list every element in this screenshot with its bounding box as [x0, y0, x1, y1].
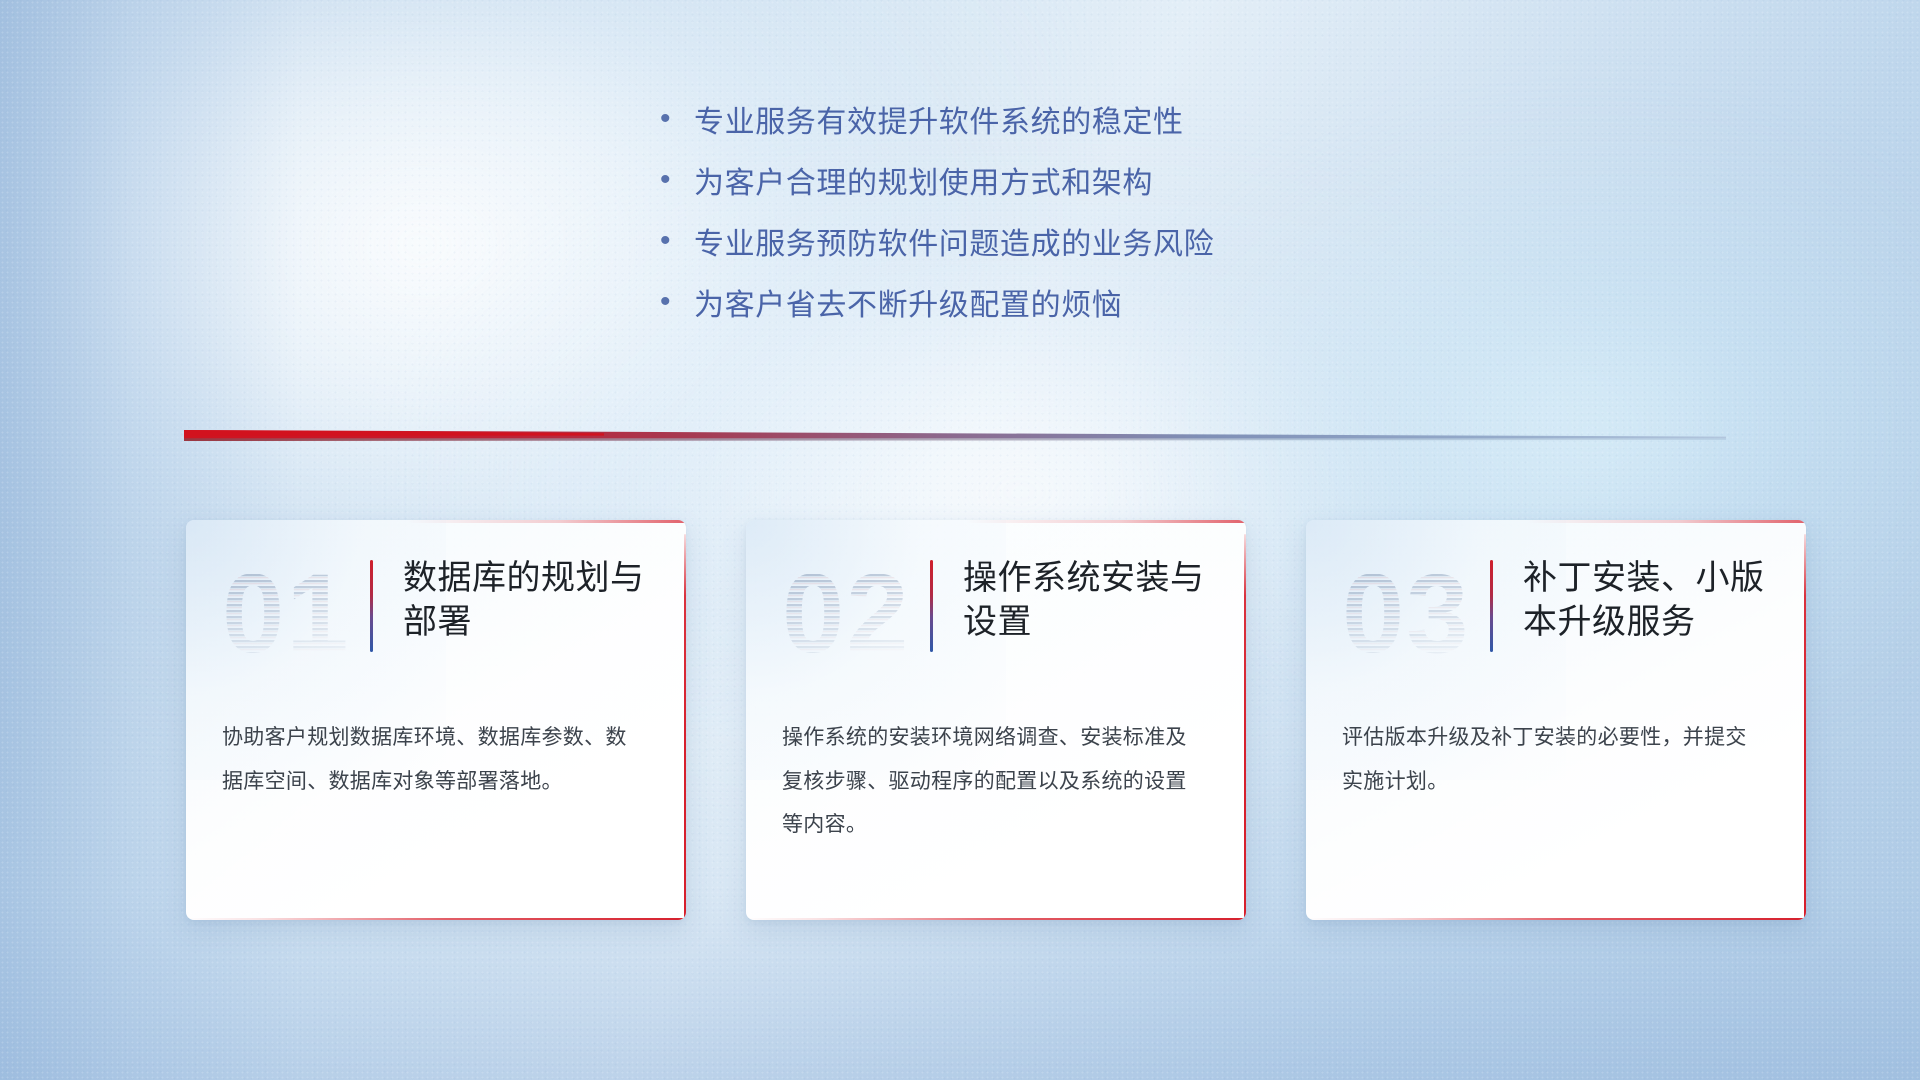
card-number-glyph: 03 — [1342, 556, 1471, 674]
bullet-dot-icon — [660, 104, 694, 134]
card-title-divider — [930, 560, 933, 652]
card-number-watermark: 03 — [1340, 554, 1490, 674]
bullet-text: 为客户合理的规划使用方式和架构 — [694, 169, 1153, 199]
striped-number-icon: 02 — [780, 556, 930, 674]
list-item: 专业服务预防软件问题造成的业务风险 — [660, 230, 1400, 260]
card-number-glyph: 01 — [222, 556, 351, 674]
service-card[interactable]: 02 操作系统安装与设置 操作系统的安装环境网络调查、安装标准及复核步骤、驱动程… — [746, 520, 1246, 920]
card-title: 数据库的规划与部署 — [403, 554, 656, 644]
card-title: 补丁安装、小版本升级服务 — [1523, 554, 1776, 644]
card-body-text: 评估版本升级及补丁安装的必要性，并提交实施计划。 — [1306, 716, 1806, 803]
service-card-row: 01 数据库的规划与部署 协助客户规划数据库环境、数据库参数、数据库空间、数据库… — [186, 520, 1806, 940]
service-card[interactable]: 01 数据库的规划与部署 协助客户规划数据库环境、数据库参数、数据库空间、数据库… — [186, 520, 686, 920]
bullet-text: 为客户省去不断升级配置的烦恼 — [694, 291, 1122, 321]
card-header: 03 补丁安装、小版本升级服务 — [1306, 520, 1806, 700]
list-item: 专业服务有效提升软件系统的稳定性 — [660, 108, 1400, 138]
card-title-divider — [1490, 560, 1493, 652]
bullet-dot-icon — [660, 226, 694, 256]
slide-canvas: 专业服务有效提升软件系统的稳定性 为客户合理的规划使用方式和架构 专业服务预防软… — [0, 0, 1920, 1080]
striped-number-icon: 03 — [1340, 556, 1490, 674]
card-body-text: 操作系统的安装环境网络调查、安装标准及复核步骤、驱动程序的配置以及系统的设置等内… — [746, 716, 1246, 847]
card-title-divider — [370, 560, 373, 652]
list-item: 为客户省去不断升级配置的烦恼 — [660, 291, 1400, 321]
card-header: 02 操作系统安装与设置 — [746, 520, 1246, 700]
list-item: 为客户合理的规划使用方式和架构 — [660, 169, 1400, 199]
card-accent-bottom — [186, 918, 686, 921]
card-body-text: 协助客户规划数据库环境、数据库参数、数据库空间、数据库对象等部署落地。 — [186, 716, 686, 803]
bullet-text: 专业服务预防软件问题造成的业务风险 — [694, 230, 1214, 260]
card-number-watermark: 02 — [780, 554, 930, 674]
card-accent-bottom — [746, 918, 1246, 921]
tapered-rule-icon — [184, 424, 1726, 452]
card-number-watermark: 01 — [220, 554, 370, 674]
benefits-bullet-list: 专业服务有效提升软件系统的稳定性 为客户合理的规划使用方式和架构 专业服务预防软… — [660, 108, 1400, 352]
service-card[interactable]: 03 补丁安装、小版本升级服务 评估版本升级及补丁安装的必要性，并提交实施计划。 — [1306, 520, 1806, 920]
section-divider — [184, 424, 1726, 452]
card-accent-bottom — [1306, 918, 1806, 921]
bullet-dot-icon — [660, 165, 694, 195]
card-title: 操作系统安装与设置 — [963, 554, 1216, 644]
bullet-text: 专业服务有效提升软件系统的稳定性 — [694, 108, 1184, 138]
card-number-glyph: 02 — [782, 556, 911, 674]
bullet-dot-icon — [660, 287, 694, 317]
card-header: 01 数据库的规划与部署 — [186, 520, 686, 700]
striped-number-icon: 01 — [220, 556, 370, 674]
